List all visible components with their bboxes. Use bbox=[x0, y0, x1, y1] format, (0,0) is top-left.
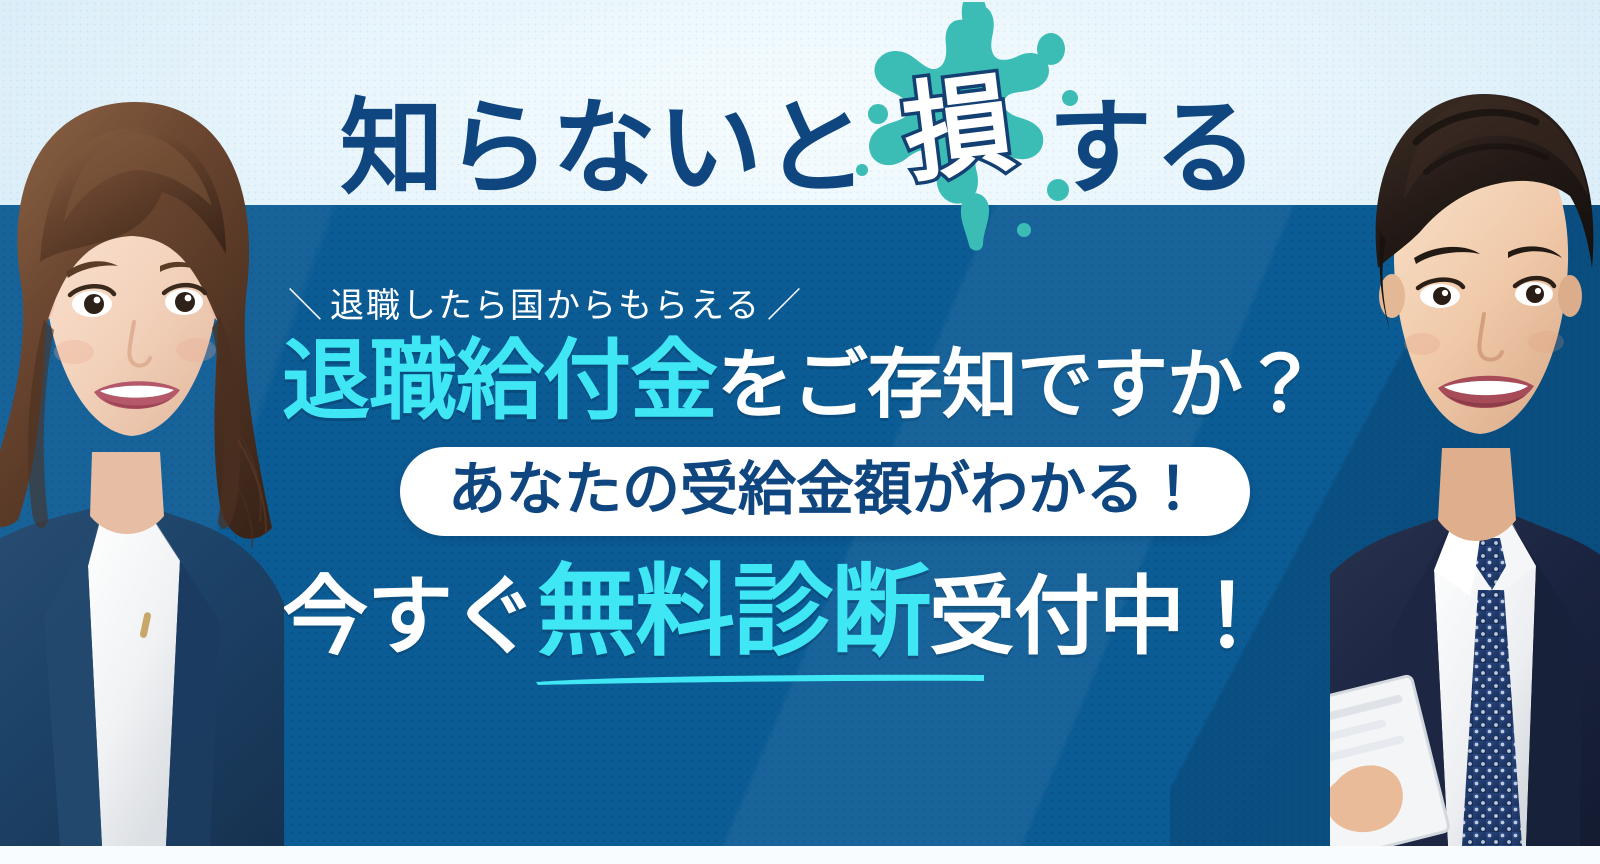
benefit-pill-text: あなたの受給金額がわかる！ bbox=[448, 455, 1202, 523]
main-rest-text: をご存知ですか？ bbox=[717, 340, 1317, 429]
eyebrow-slash-left: ＼ bbox=[282, 288, 330, 325]
cta-line: 今すぐ無料診断受付中！ bbox=[282, 562, 1322, 662]
copy-block: ＼退職したら国からもらえる／ 退職給付金をご存知ですか？ あなたの受給金額がわか… bbox=[282, 288, 1322, 662]
cta-emphasis-text: 無料診断 bbox=[537, 553, 929, 670]
benefit-pill: あなたの受給金額がわかる！ bbox=[400, 447, 1250, 536]
main-question-line: 退職給付金をご存知ですか？ bbox=[282, 337, 1322, 425]
cta-underline-stroke bbox=[534, 672, 986, 685]
main-emphasis-text: 退職給付金 bbox=[282, 329, 717, 432]
person-photo-left bbox=[0, 0, 284, 846]
eyebrow-line: ＼退職したら国からもらえる／ bbox=[282, 288, 1322, 325]
bottom-white-strip bbox=[0, 846, 1600, 864]
promo-banner: 知らないと 損 する bbox=[0, 0, 1600, 864]
cta-prefix-text: 今すぐ bbox=[282, 567, 537, 667]
eyebrow-text: 退職したら国からもらえる bbox=[330, 287, 761, 325]
cta-suffix-text: 受付中！ bbox=[929, 567, 1269, 667]
eyebrow-slash-right: ／ bbox=[761, 288, 809, 325]
person-photo-right bbox=[1330, 0, 1600, 846]
